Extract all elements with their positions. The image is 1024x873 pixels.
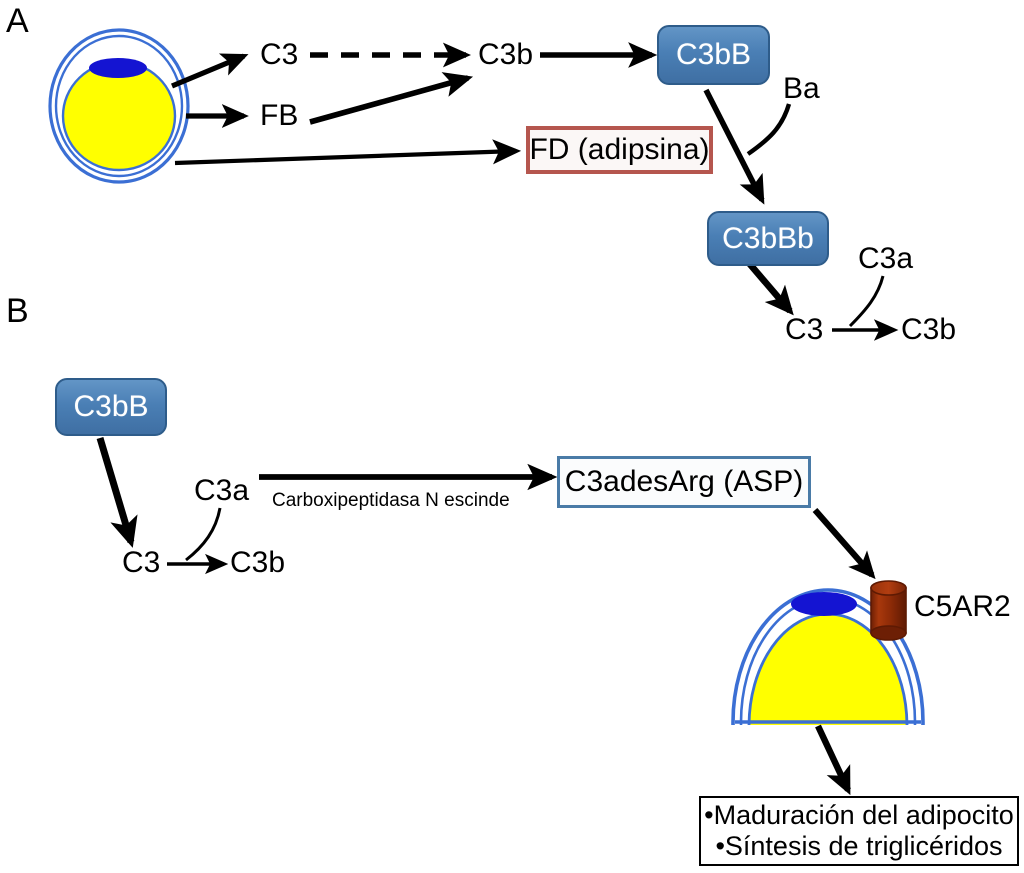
outcome-line-2: •Síntesis de triglicéridos xyxy=(715,831,1002,862)
node-fb-a: FB xyxy=(260,101,298,131)
nucleus-icon-b xyxy=(791,592,857,616)
arrow-fb-to-c3b xyxy=(310,78,468,122)
nucleus-icon xyxy=(89,58,147,78)
node-c3a-b: C3a xyxy=(194,476,249,506)
lipid-droplet-icon xyxy=(63,62,175,170)
node-c3a-a: C3a xyxy=(858,244,913,274)
node-c3b-b: C3b xyxy=(230,548,285,578)
arrow-c3bb-to-c3-b xyxy=(100,438,131,542)
node-box-c3bbb-a[interactable]: C3bBb xyxy=(707,211,829,266)
panel-letter-a: A xyxy=(6,4,29,38)
enzyme-label-carboxipeptidasa: Carboxipeptidasa N escinde xyxy=(272,491,510,510)
diagram-vector-layer: C3b --> (toward C3b) --> C3bB box --> C3… xyxy=(0,0,1024,873)
node-c3-lower-a: C3 xyxy=(785,315,823,345)
arrow-c3bb-to-c3bbb xyxy=(706,90,762,200)
panel-letter-b: B xyxy=(6,294,29,328)
adipocyte-cell-icon xyxy=(50,30,188,182)
arrow-c3a-release-b xyxy=(186,508,220,560)
arrow-asp-to-receptor xyxy=(815,510,872,575)
arrow-c3bbb-to-c3 xyxy=(748,262,790,311)
node-box-fd-adipsina-label: FD (adipsina) xyxy=(529,133,709,167)
arrow-cell-to-outcomes xyxy=(818,726,848,790)
node-box-c3adesarg-asp[interactable]: C3adesArg (ASP) xyxy=(557,456,811,508)
node-box-c3bbb-a-label: C3bBb xyxy=(722,222,814,256)
arrow-c3a-release-a xyxy=(850,276,883,326)
node-c3b-a: C3b xyxy=(478,40,533,70)
receptor-cylinder-icon xyxy=(871,581,906,640)
outcomes-box: •Maduración del adipocito •Síntesis de t… xyxy=(699,796,1019,866)
figure-canvas: C3b --> (toward C3b) --> C3bB box --> C3… xyxy=(0,0,1024,873)
node-box-c3adesarg-asp-label: C3adesArg (ASP) xyxy=(565,465,803,499)
node-c3-a: C3 xyxy=(260,40,298,70)
arrow-cell-to-fd xyxy=(175,151,516,163)
node-box-fd-adipsina[interactable]: FD (adipsina) xyxy=(526,126,713,174)
outcome-line-1: •Maduración del adipocito xyxy=(704,800,1014,831)
node-c5ar2-label: C5AR2 xyxy=(914,592,1011,622)
node-c3b-lower-a: C3b xyxy=(901,315,956,345)
arrow-ba-release xyxy=(748,104,789,154)
arrow-cell-to-c3 xyxy=(172,56,244,86)
node-box-c3bb-b[interactable]: C3bB xyxy=(55,378,167,436)
node-box-c3bb-a-label: C3bB xyxy=(676,38,751,72)
node-box-c3bb-b-label: C3bB xyxy=(73,390,148,424)
node-c3-b: C3 xyxy=(122,548,160,578)
node-box-c3bb-a[interactable]: C3bB xyxy=(657,25,770,85)
node-ba-a: Ba xyxy=(783,74,820,104)
